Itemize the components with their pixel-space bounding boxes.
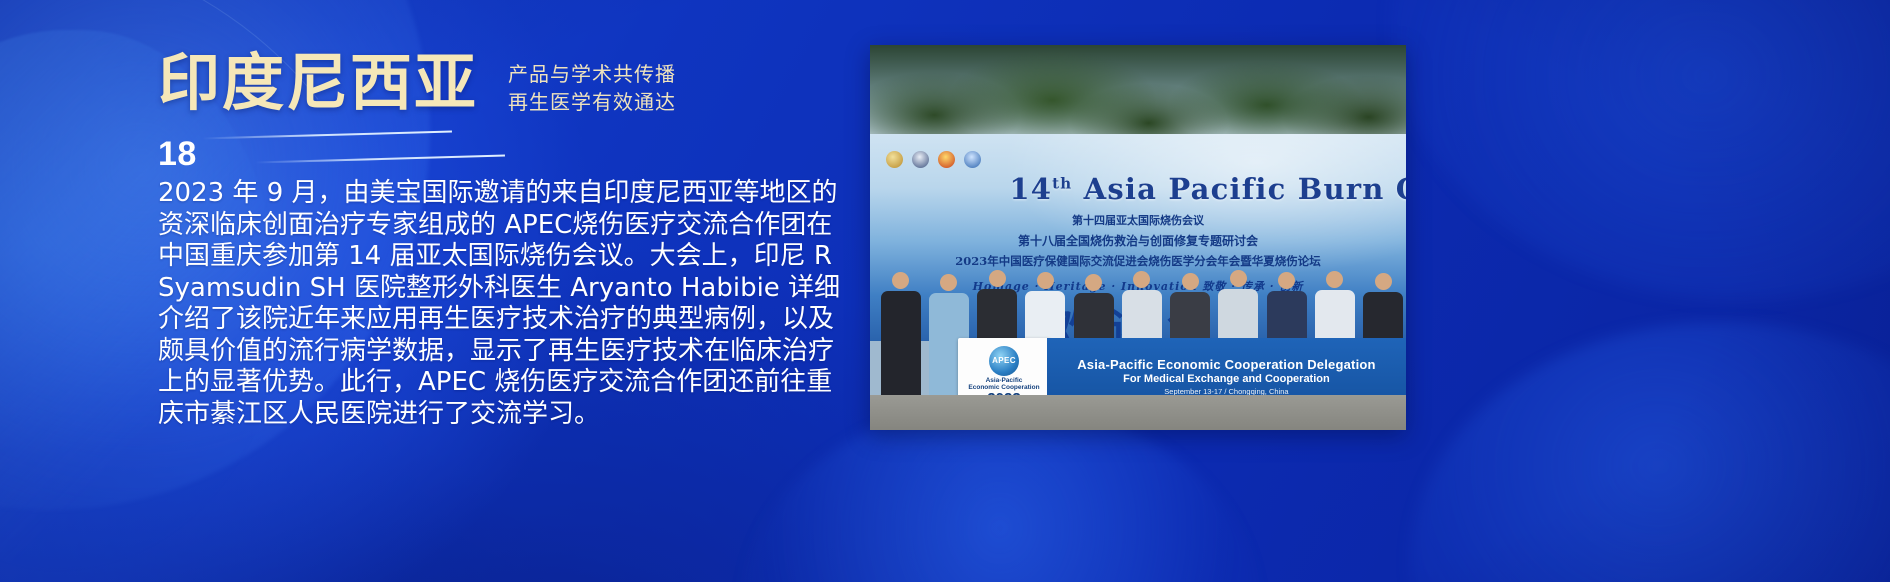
org-logo-4-icon — [964, 151, 981, 168]
divider-line-bottom — [255, 155, 505, 164]
org-logo-2-icon — [912, 151, 929, 168]
person-head — [940, 274, 957, 291]
person-body — [881, 291, 921, 411]
person-head — [1133, 271, 1150, 288]
divider-line-top — [202, 131, 452, 140]
page-subtitle: 产品与学术共传播 再生医学有效通达 — [508, 60, 676, 116]
org-logo-3-icon — [938, 151, 955, 168]
person-head — [1326, 271, 1343, 288]
photo-banner-title: 14th Asia Pacific Burn Congress — [1009, 172, 1406, 206]
delegation-banner-line2: For Medical Exchange and Cooperation — [1123, 373, 1330, 385]
apec-globe-icon: APEC — [989, 346, 1019, 376]
person-head — [1230, 270, 1247, 287]
left-content-column: 印度尼西亚 产品与学术共传播 再生医学有效通达 18 2023 年 9 月，由美… — [0, 0, 860, 582]
divider-group — [180, 118, 480, 174]
person-head — [892, 272, 909, 289]
delegation-banner-line3: September 13-17 / Chongqing, China — [1164, 387, 1288, 396]
page-title: 印度尼西亚 — [158, 52, 478, 114]
photo-banner-subtitle-1: 第十四届亚太国际烧伤会议 — [1072, 212, 1204, 228]
conference-photo: 14th Asia Pacific Burn Congress 第十四届亚太国际… — [870, 45, 1406, 430]
person — [881, 272, 921, 411]
person-head — [1182, 273, 1199, 290]
photo-banner-subtitle-2: 第十八届全国烧伤救治与创面修复专题研讨会 — [1018, 232, 1258, 249]
photo-trees — [870, 45, 1406, 145]
person-head — [1037, 272, 1054, 289]
apec-placard-line1: Asia-Pacific — [986, 377, 1023, 384]
photo-banner-title-ordinal: th — [1052, 174, 1072, 192]
section-number: 18 — [158, 135, 197, 174]
photo-banner-title-number: 14 — [1009, 172, 1052, 206]
photo-banner-title-rest: Asia Pacific Burn Congress — [1072, 172, 1406, 206]
photo-ground — [870, 395, 1406, 430]
person-head — [1278, 272, 1295, 289]
photo-banner-subtitle-3: 2023年中国医疗保健国际交流促进会烧伤医学分会年会暨华夏烧伤论坛 — [955, 253, 1321, 269]
person-head — [989, 270, 1006, 287]
delegation-banner-line1: Asia-Pacific Economic Cooperation Delega… — [1077, 357, 1375, 372]
org-logo-1-icon — [886, 151, 903, 168]
body-paragraph: 2023 年 9 月，由美宝国际邀请的来自印度尼西亚等地区的资深临床创面治疗专家… — [158, 178, 848, 430]
photo-organization-logos — [886, 151, 981, 168]
person-head — [1375, 273, 1392, 290]
person-head — [1085, 274, 1102, 291]
